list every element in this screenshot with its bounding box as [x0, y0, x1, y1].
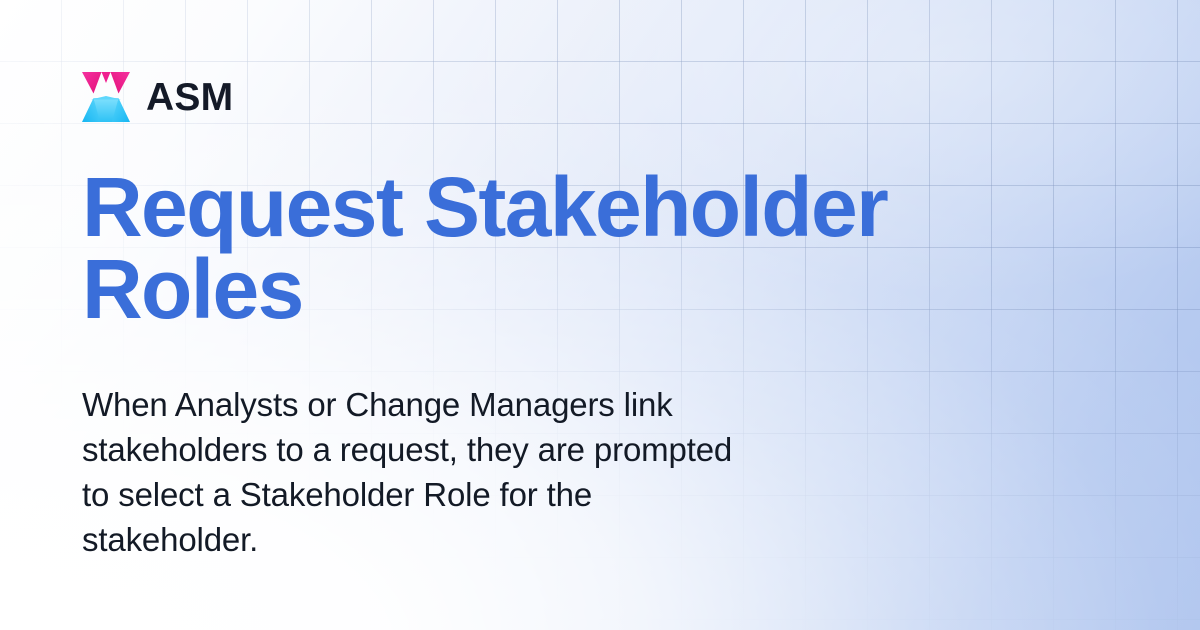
- og-social-card: ASM Request Stakeholder Roles When Analy…: [0, 0, 1200, 630]
- asm-butterfly-logo-icon: [82, 72, 130, 122]
- card-content: ASM Request Stakeholder Roles When Analy…: [82, 0, 1122, 630]
- page-description: When Analysts or Change Managers link st…: [82, 383, 872, 563]
- page-title: Request Stakeholder Roles: [82, 166, 1042, 331]
- brand-name: ASM: [146, 78, 233, 117]
- brand-lockup: ASM: [82, 72, 233, 122]
